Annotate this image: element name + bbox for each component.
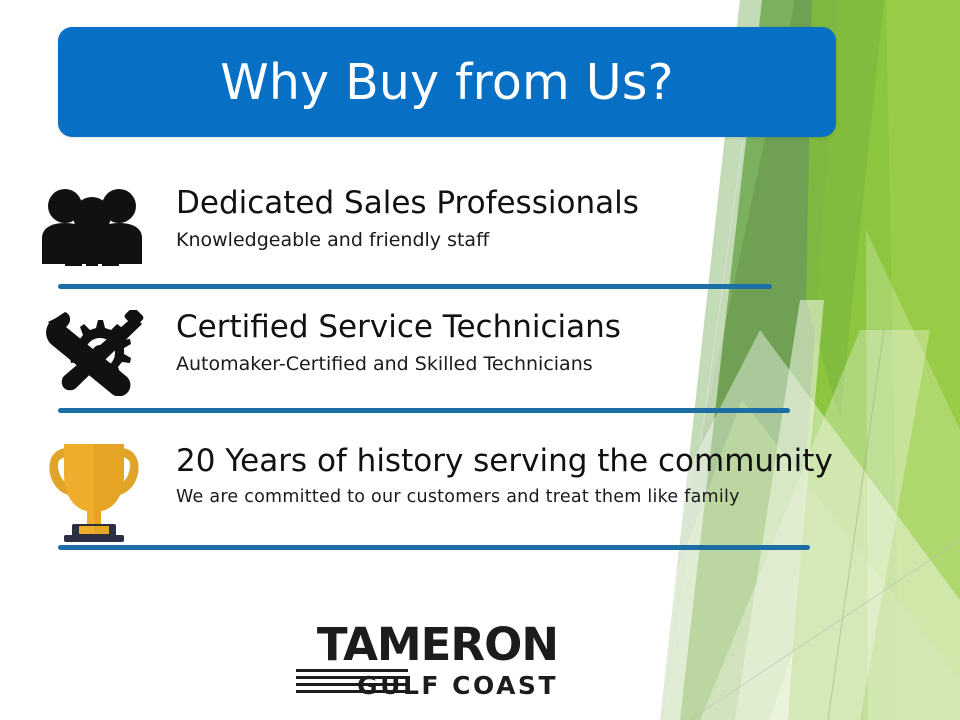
logo-wordmark: TAMERON bbox=[296, 622, 558, 667]
section-divider bbox=[58, 408, 790, 413]
title-banner: Why Buy from Us? bbox=[58, 27, 836, 137]
section-divider bbox=[58, 284, 772, 289]
feature-subtitle: We are committed to our customers and tr… bbox=[176, 487, 833, 508]
feature-text-block: Dedicated Sales Professionals Knowledgea… bbox=[176, 186, 639, 252]
wrench-gear-screwdriver-icon bbox=[40, 310, 144, 400]
feature-subtitle: Automaker-Certified and Skilled Technici… bbox=[176, 353, 621, 376]
feature-text-block: Certified Service Technicians Automaker-… bbox=[176, 310, 621, 376]
slide: Why Buy from Us? Dedicated Sales Profess… bbox=[0, 0, 960, 720]
trophy-icon bbox=[44, 436, 144, 546]
section-divider bbox=[58, 545, 810, 550]
feature-title: Certified Service Technicians bbox=[176, 310, 621, 345]
feature-title: 20 Years of history serving the communit… bbox=[176, 444, 833, 479]
feature-title: Dedicated Sales Professionals bbox=[176, 186, 639, 221]
people-group-icon bbox=[40, 186, 144, 270]
page-title: Why Buy from Us? bbox=[220, 58, 674, 107]
logo-stripes-icon bbox=[296, 669, 408, 697]
tameron-gulf-coast-logo: TAMERON GULF COAST bbox=[296, 622, 558, 698]
feature-text-block: 20 Years of history serving the communit… bbox=[176, 444, 833, 508]
feature-subtitle: Knowledgeable and friendly staff bbox=[176, 229, 639, 252]
